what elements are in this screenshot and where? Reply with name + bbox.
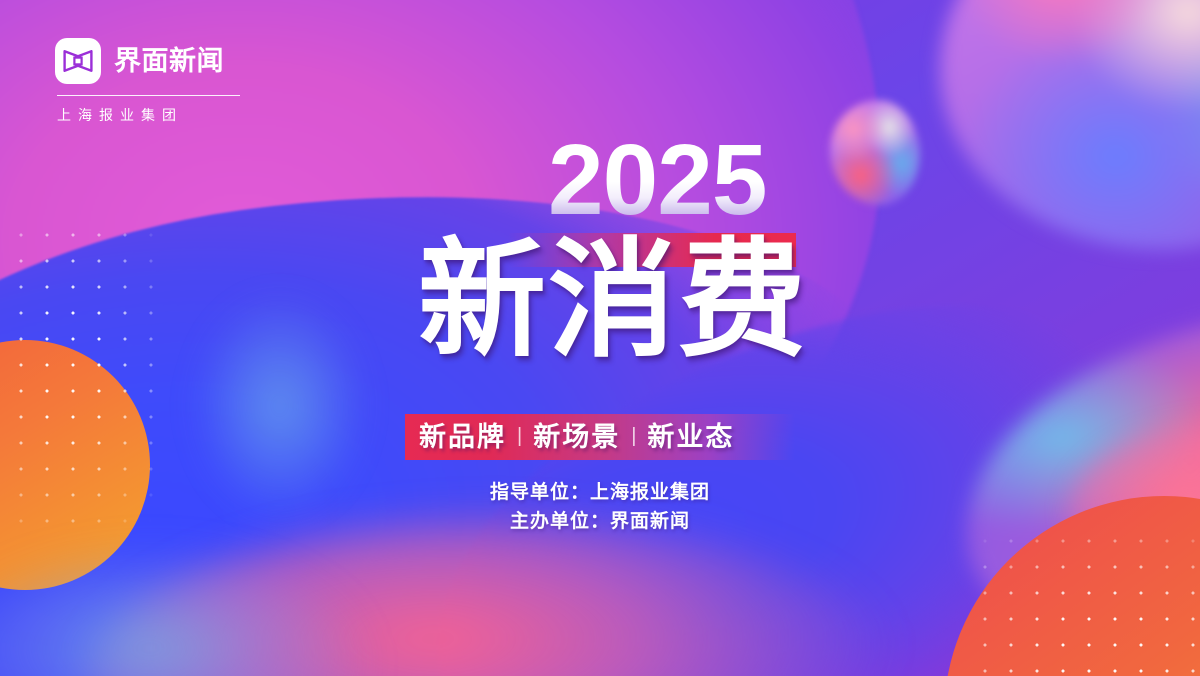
hero-year: 2025 bbox=[548, 131, 766, 229]
tagline-separator-2: | bbox=[631, 426, 636, 446]
credit-line-organizer: 主办单位：界面新闻 bbox=[0, 507, 1200, 536]
tagline-item-3: 新业态 bbox=[647, 424, 734, 451]
hero-tagline-bar: 新品牌 | 新场景 | 新业态 bbox=[405, 414, 795, 460]
tagline-item-1: 新品牌 bbox=[419, 424, 506, 451]
tagline-item-2: 新场景 bbox=[533, 424, 620, 451]
hero-title: 新消费 bbox=[418, 236, 808, 367]
poster-canvas: 界面新闻 上海报业集团 2025 新消费 新品牌 | 新场景 | 新业态 指导单… bbox=[0, 0, 1200, 676]
credit-line-guidance: 指导单位：上海报业集团 bbox=[0, 478, 1200, 507]
hero-credits: 指导单位：上海报业集团 主办单位：界面新闻 bbox=[0, 478, 1200, 537]
tagline-separator-1: | bbox=[517, 426, 522, 446]
hero-block: 2025 新消费 新品牌 | 新场景 | 新业态 指导单位：上海报业集团 主办单… bbox=[0, 0, 1200, 676]
